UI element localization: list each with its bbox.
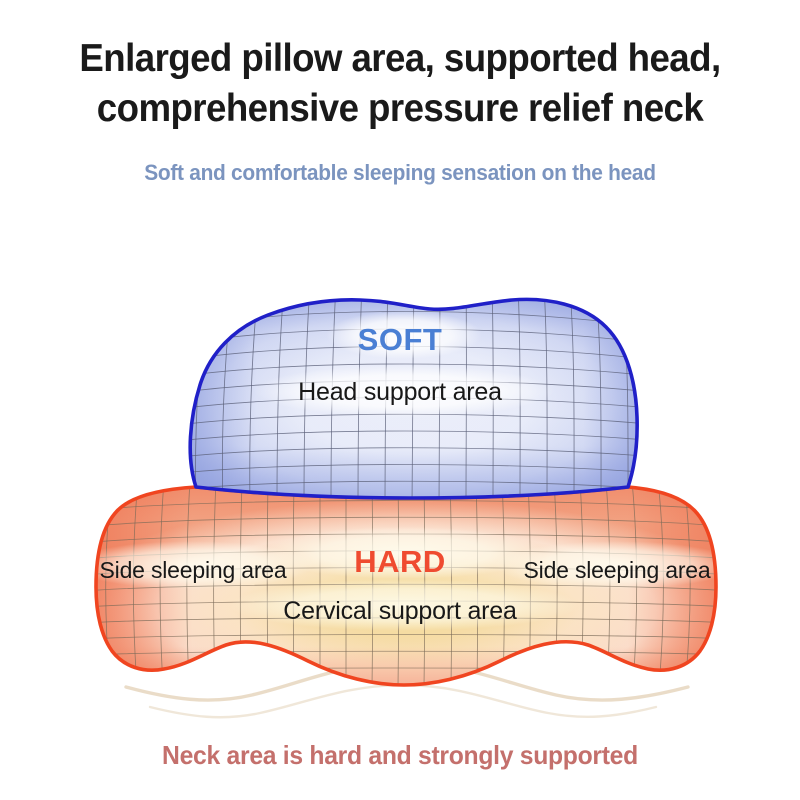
side-sleeping-label-right: Side sleeping area [502, 557, 732, 584]
subtitle: Soft and comfortable sleeping sensation … [20, 160, 780, 186]
headline-line-2: comprehensive pressure relief neck [24, 84, 776, 134]
footnote-caption: Neck area is hard and strongly supported [20, 740, 780, 771]
hard-zone-label: Cervical support area [0, 597, 800, 626]
headline-line-1: Enlarged pillow area, supported head, [24, 34, 776, 84]
page-title: Enlarged pillow area, supported head, co… [0, 34, 800, 134]
infographic-page: Enlarged pillow area, supported head, co… [0, 0, 800, 800]
side-sleeping-label-left: Side sleeping area [78, 557, 308, 584]
pillow-diagram [0, 195, 800, 735]
hard-zone-body [70, 475, 740, 695]
soft-zone-badge: SOFT [0, 322, 800, 358]
soft-zone-label: Head support area [0, 378, 800, 407]
